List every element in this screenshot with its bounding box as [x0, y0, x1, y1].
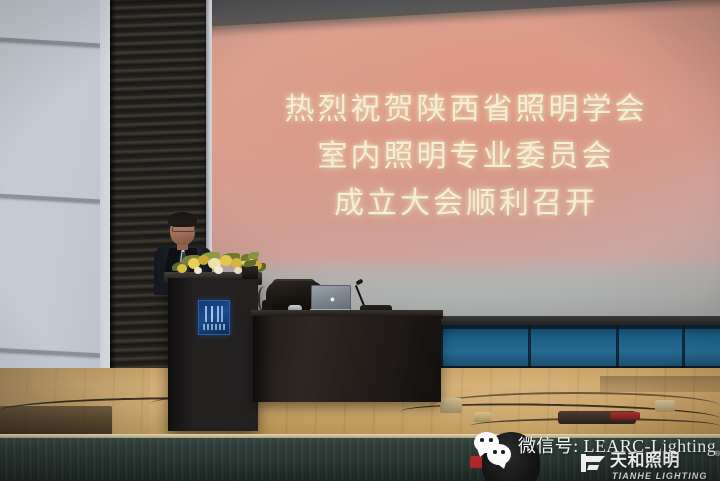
slide-line-3: 成立大会顺利召开 [212, 180, 720, 227]
plant-pot [242, 266, 258, 279]
column-left-edge [110, 0, 116, 424]
floor-equipment-box [655, 400, 675, 412]
desk-cable [258, 286, 276, 312]
floor-far-shadow [600, 376, 720, 392]
macbook-laptop: ● [310, 285, 350, 313]
floor-equipment-box [474, 412, 491, 422]
table-shading [253, 316, 275, 402]
potted-plant [240, 252, 260, 278]
podium-emblem-plaque [198, 300, 230, 335]
emblem-glyph [203, 306, 225, 322]
floor-equipment-accent [610, 412, 640, 420]
panel-divider [528, 325, 531, 370]
panel-divider [616, 325, 619, 370]
event-photograph: 热烈祝贺陕西省照明学会 室内照明专业委员会 成立大会顺利召开 [0, 0, 720, 481]
floor-equipment-box [440, 398, 462, 413]
glasses-icon [170, 225, 195, 231]
slide-line-2: 室内照明专业委员会 [212, 133, 720, 180]
emblem-base [203, 324, 225, 330]
presentation-table [253, 316, 441, 402]
laptop-lid: ● [311, 285, 351, 312]
projection-screen: 热烈祝贺陕西省照明学会 室内照明专业委员会 成立大会顺利召开 [212, 0, 720, 318]
podium-shading [168, 278, 194, 431]
stage-skirt [0, 438, 720, 481]
apple-logo-icon: ● [329, 295, 336, 303]
panel-divider [682, 325, 685, 370]
stage-red-object [470, 456, 482, 468]
slide-line-1: 热烈祝贺陕西省照明学会 [212, 86, 720, 133]
slide-text-block: 热烈祝贺陕西省照明学会 室内照明专业委员会 成立大会顺利召开 [212, 86, 720, 227]
